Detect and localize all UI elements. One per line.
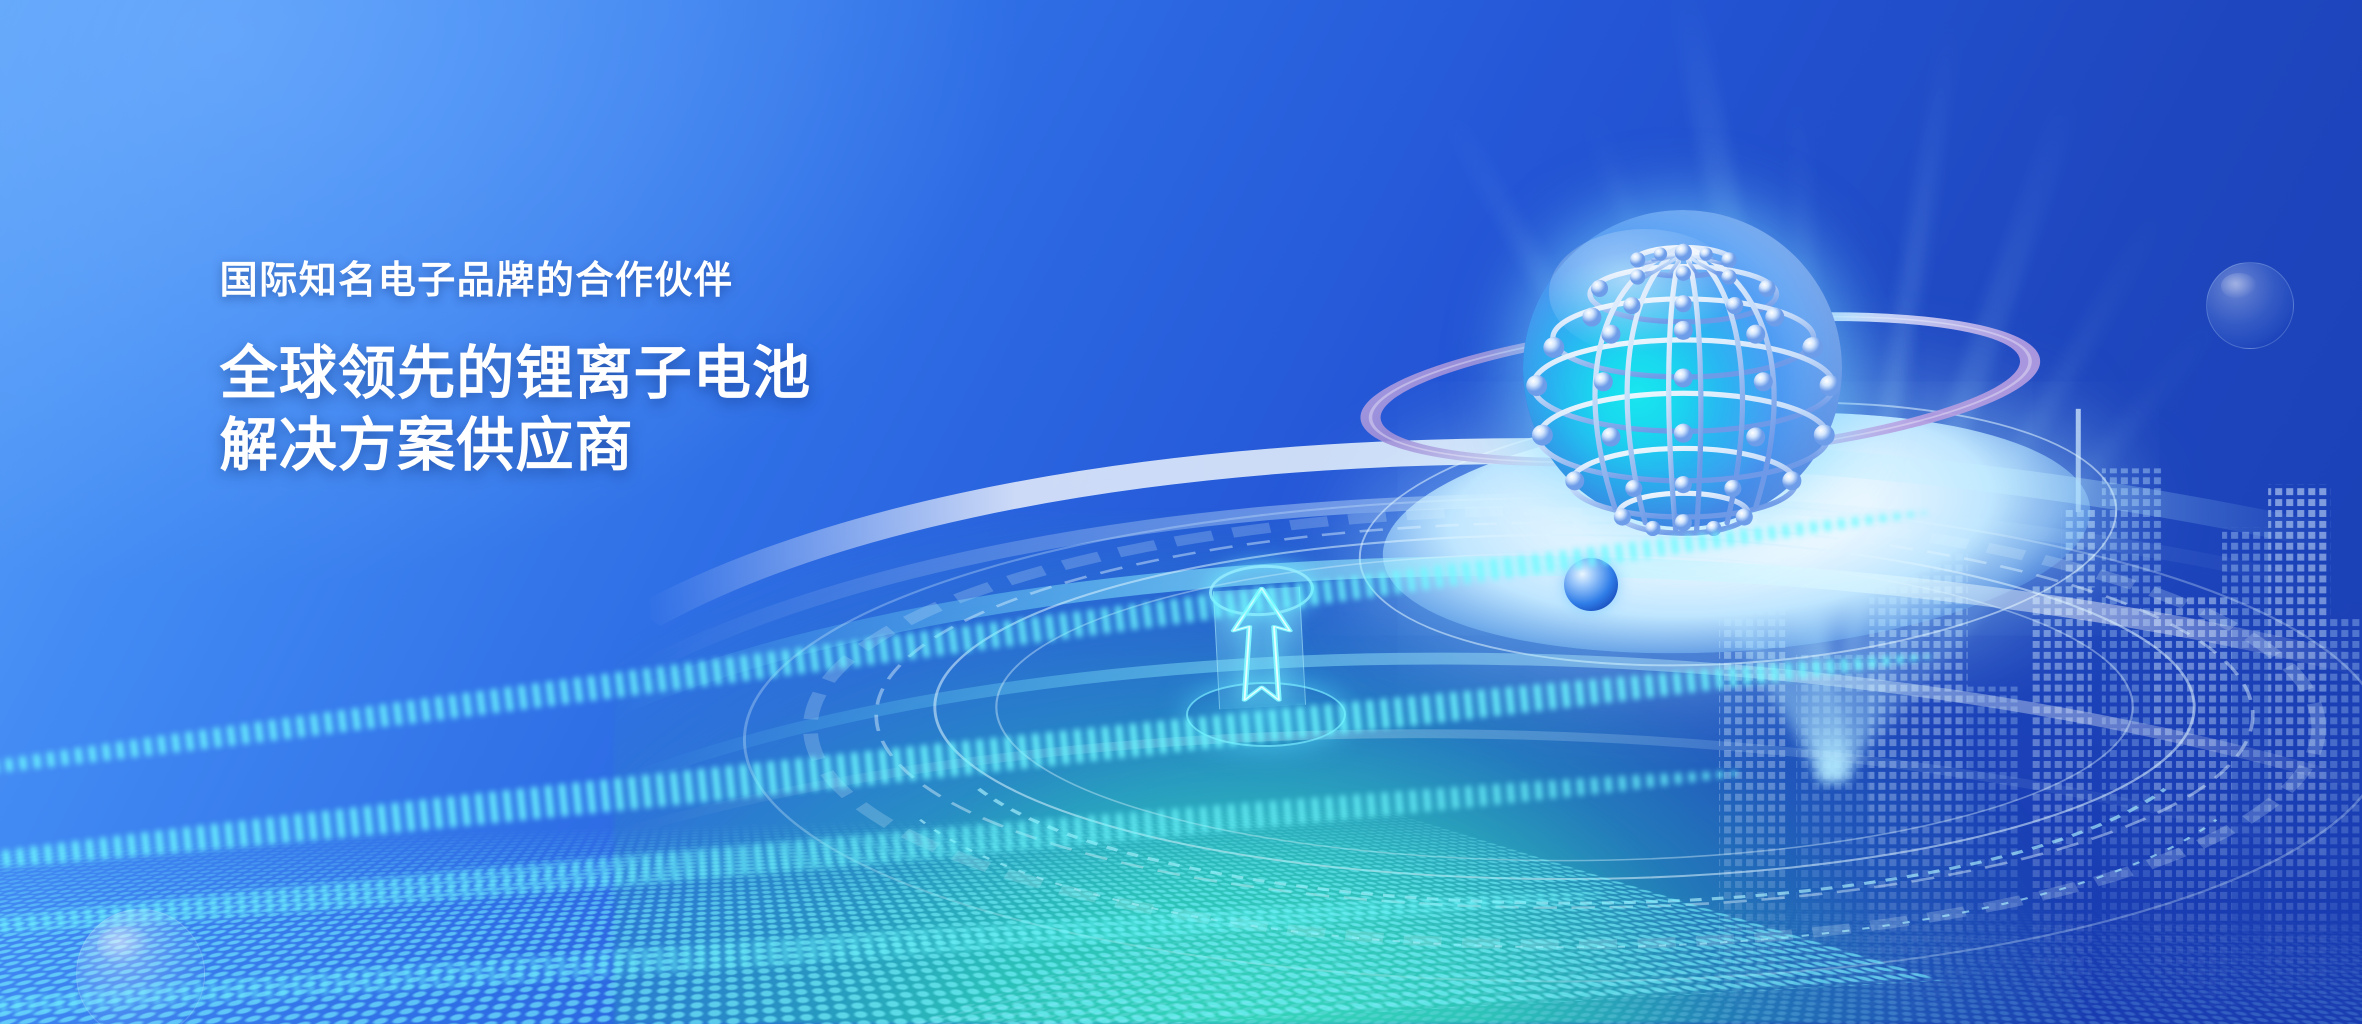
- globe-wireframe-mesh: [1492, 178, 1875, 559]
- hero-banner: 国际知名电子品牌的合作伙伴 全球领先的锂离子电池 解决方案供应商: [0, 0, 2362, 1024]
- bubble-sphere-top-right: [2206, 262, 2293, 349]
- headline-line-2: 解决方案供应商: [220, 413, 634, 478]
- banner-copy: 国际知名电子品牌的合作伙伴 全球领先的锂离子电池 解决方案供应商: [220, 249, 812, 483]
- banner-eyebrow: 国际知名电子品牌的合作伙伴: [220, 249, 812, 304]
- headline-line-1: 全球领先的锂离子电池: [220, 341, 812, 406]
- bubble-sphere-bottom-left: [76, 909, 206, 1024]
- wireframe-globe-icon: [1523, 210, 1842, 527]
- banner-headline: 全球领先的锂离子电池 解决方案供应商: [220, 338, 812, 483]
